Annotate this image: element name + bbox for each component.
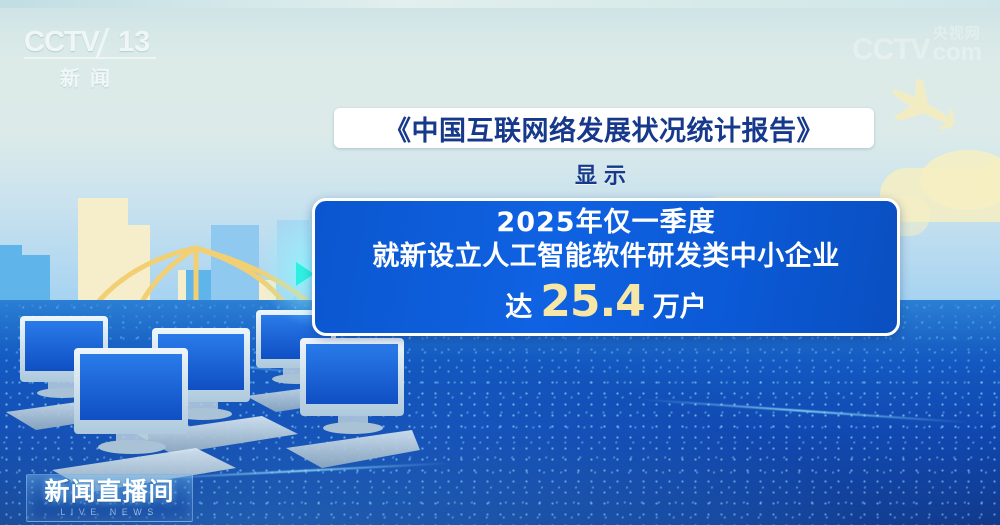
computer-monitor [286,338,420,468]
callout-number: 25.4 [540,276,645,327]
watermark-brand: CCTV [852,35,930,65]
statistic-callout-box: 2025年仅一季度 就新设立人工智能软件研发类中小企业 达 25.4 万户 [312,198,900,336]
program-name-cn: 新闻直播间 [44,479,174,504]
cctv-com-watermark: CCTV 央视网 com [852,26,982,65]
broadcast-screenshot: CCTV 13 新闻 CCTV 央视网 com 《中国互联网络发展状况统计报告》… [0,0,1000,525]
program-name-en: LIVE NEWS [60,507,159,517]
watermark-tld: com [933,41,982,65]
headline-title-bar: 《中国互联网络发展状况统计报告》 [334,108,874,148]
callout-line-3: 达 25.4 万户 [505,276,707,327]
page-title: 《中国互联网络发展状况统计报告》 [384,109,824,148]
callout-line-1: 2025年仅一季度 [496,207,715,239]
headline-subtitle: 显示 [334,158,874,190]
callout-unit: 万户 [653,285,707,324]
cctv-channel-number: 13 [118,26,150,59]
cctv13-logo: CCTV 13 新闻 [24,26,164,82]
callout-prefix: 达 [505,285,532,324]
cctv-logo-text: CCTV [24,26,99,59]
cctv-channel-name: 新闻 [24,62,156,91]
callout-line-2: 就新设立人工智能软件研发类中小企业 [372,241,840,273]
sky-top-band [0,0,1000,8]
program-lower-third: 新闻直播间 LIVE NEWS [26,474,193,522]
